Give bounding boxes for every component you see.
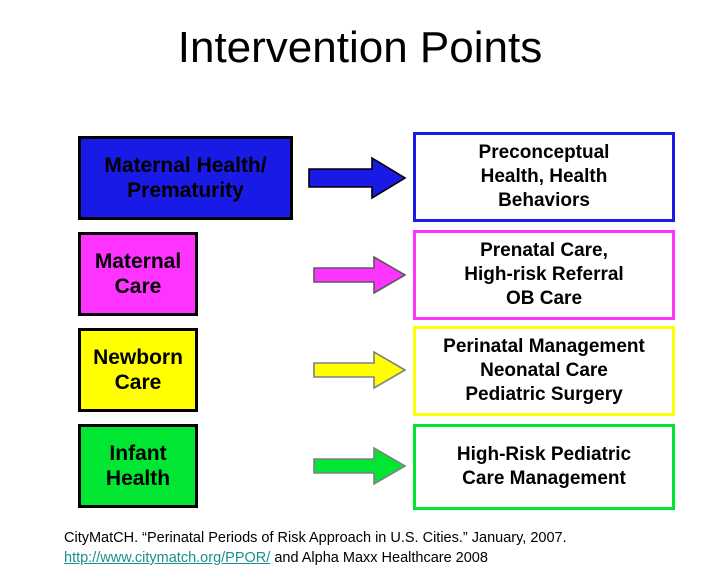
target-box-label: Perinatal ManagementNeonatal CarePediatr… <box>416 335 672 407</box>
source-box-maternal-care[interactable]: MaternalCare <box>78 232 198 316</box>
arrow-right-blue <box>308 156 406 200</box>
target-box-preconceptual-health[interactable]: PreconceptualHealth, HealthBehaviors <box>413 132 675 222</box>
target-box-prenatal-care[interactable]: Prenatal Care,High-risk ReferralOB Care <box>413 230 675 320</box>
source-box-newborn-care[interactable]: NewbornCare <box>78 328 198 412</box>
target-box-label-line: Prenatal Care, <box>480 240 608 261</box>
citation-line-2: http://www.citymatch.org/PPOR/ and Alpha… <box>64 548 704 568</box>
citation-block: CityMatCH. “Perinatal Periods of Risk Ap… <box>64 528 704 568</box>
target-box-label: PreconceptualHealth, HealthBehaviors <box>416 141 672 213</box>
target-box-label: Prenatal Care,High-risk ReferralOB Care <box>416 239 672 311</box>
target-box-label-line: Behaviors <box>498 190 590 211</box>
citation-line-2-suffix: and Alpha Maxx Healthcare 2008 <box>270 550 488 566</box>
target-box-label-line: Health, Health <box>481 166 608 187</box>
source-box-label-line: Care <box>115 371 162 394</box>
target-box-label-line: Perinatal Management <box>443 336 645 357</box>
source-box-label-line: Newborn <box>93 346 183 369</box>
citation-line-1: CityMatCH. “Perinatal Periods of Risk Ap… <box>64 528 704 548</box>
source-box-label: Maternal Health/Prematurity <box>81 153 290 203</box>
source-box-label: MaternalCare <box>81 249 195 299</box>
source-box-label-line: Maternal Health/ <box>104 154 266 177</box>
arrow-right-green <box>313 446 406 486</box>
source-box-maternal-health-prematurity[interactable]: Maternal Health/Prematurity <box>78 136 293 220</box>
source-box-label-line: Health <box>106 467 170 490</box>
target-box-label-line: High-Risk Pediatric <box>457 444 631 465</box>
target-box-high-risk-pediatric[interactable]: High-Risk PediatricCare Management <box>413 424 675 510</box>
source-box-label-line: Infant <box>109 442 166 465</box>
source-box-infant-health[interactable]: InfantHealth <box>78 424 198 508</box>
source-box-label-line: Prematurity <box>127 179 244 202</box>
intervention-points-diagram: Maternal Health/Prematurity Preconceptua… <box>0 0 720 520</box>
target-box-label-line: Care Management <box>462 468 626 489</box>
target-box-label-line: Pediatric Surgery <box>465 384 622 405</box>
source-box-label-line: Maternal <box>95 250 181 273</box>
arrow-right-magenta <box>313 255 406 295</box>
target-box-label-line: Preconceptual <box>479 142 610 163</box>
source-box-label: InfantHealth <box>81 441 195 491</box>
source-box-label-line: Care <box>115 275 162 298</box>
arrow-right-yellow <box>313 350 406 390</box>
target-box-perinatal-management[interactable]: Perinatal ManagementNeonatal CarePediatr… <box>413 326 675 416</box>
target-box-label-line: High-risk Referral <box>464 264 623 285</box>
source-box-label: NewbornCare <box>81 345 195 395</box>
target-box-label-line: OB Care <box>506 288 582 309</box>
target-box-label-line: Neonatal Care <box>480 360 608 381</box>
citymatch-ppor-link[interactable]: http://www.citymatch.org/PPOR/ <box>64 550 270 566</box>
target-box-label: High-Risk PediatricCare Management <box>416 443 672 491</box>
